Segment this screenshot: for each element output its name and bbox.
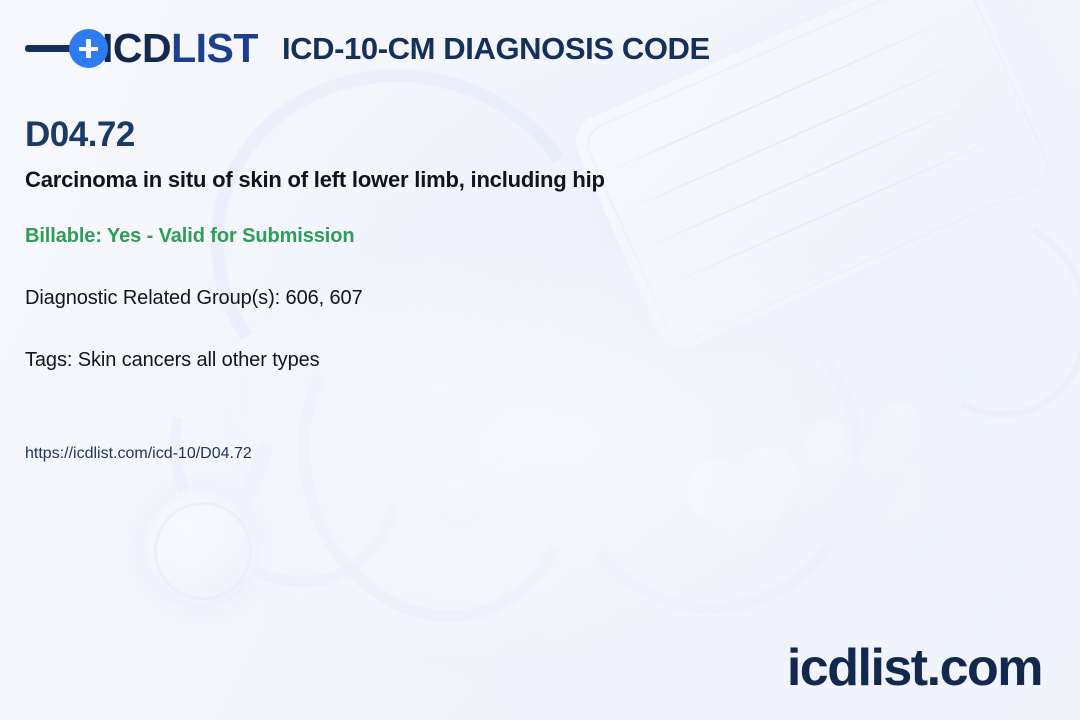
source-url[interactable]: https://icdlist.com/icd-10/D04.72 [25, 444, 252, 463]
dash-icon [25, 45, 73, 52]
footer-brand: icdlist.com [787, 642, 1042, 694]
tags-line: Tags: Skin cancers all other types [25, 348, 320, 372]
site-header: ICDLIST ICD-10-CM DIAGNOSIS CODE [25, 28, 710, 69]
diagnosis-description: Carcinoma in situ of skin of left lower … [25, 167, 605, 193]
logo-word-list: LIST [171, 25, 258, 71]
page-title: ICD-10-CM DIAGNOSIS CODE [282, 33, 710, 64]
logo-word-icd: ICD [102, 25, 171, 71]
billable-status-badge: Billable: Yes - Valid for Submission [25, 224, 354, 248]
icdlist-logo[interactable]: ICDLIST [25, 28, 258, 69]
medical-plus-icon [69, 29, 108, 68]
diagnostic-related-groups: Diagnostic Related Group(s): 606, 607 [25, 286, 363, 310]
poster-canvas: ICDLIST ICD-10-CM DIAGNOSIS CODE D04.72 … [0, 0, 1080, 720]
plus-vertical-bar [86, 39, 91, 58]
logo-wordmark: ICDLIST [102, 28, 258, 69]
diagnosis-code: D04.72 [25, 117, 135, 152]
poster-content: ICDLIST ICD-10-CM DIAGNOSIS CODE D04.72 … [0, 0, 1080, 720]
